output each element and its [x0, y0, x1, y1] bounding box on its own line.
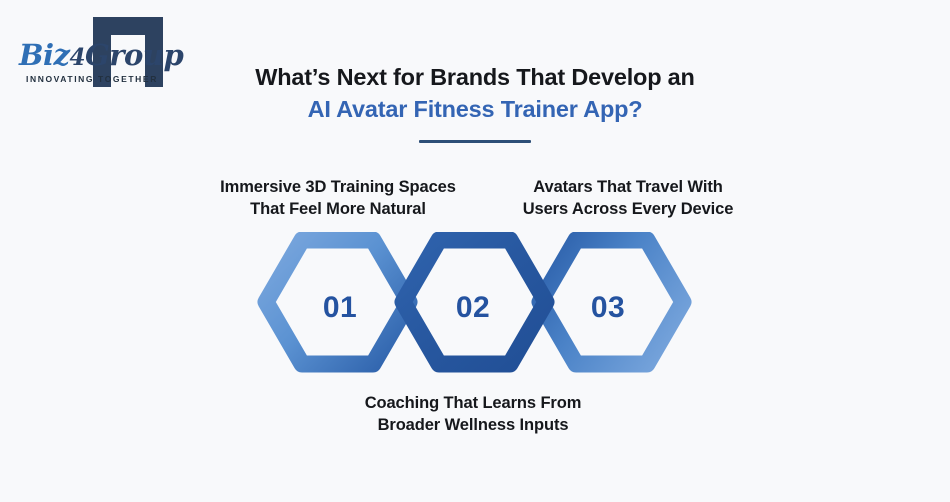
logo-word-group: Group — [85, 38, 183, 72]
logo-word-four: 4 — [70, 44, 86, 71]
header-title-block: What’s Next for Brands That Develop an A… — [175, 62, 775, 143]
step-caption-1: Immersive 3D Training Spaces That Feel M… — [188, 176, 488, 220]
step-caption-2-line-1: Coaching That Learns From — [365, 394, 582, 412]
logo-wordmark: Biz4Group — [19, 38, 159, 72]
page-title-line-2: AI Avatar Fitness Trainer App? — [175, 94, 775, 124]
hexagon-number-3: 03 — [568, 291, 648, 325]
step-caption-1-line-1: Immersive 3D Training Spaces — [220, 178, 456, 196]
title-divider — [419, 140, 531, 143]
logo-tagline: INNOVATING TOGETHER — [26, 74, 158, 84]
hexagon-number-1: 01 — [300, 291, 380, 325]
infographic-canvas: Biz4Group INNOVATING TOGETHER What’s Nex… — [0, 0, 950, 502]
step-caption-3-line-1: Avatars That Travel With — [533, 178, 722, 196]
step-caption-1-line-2: That Feel More Natural — [188, 198, 488, 220]
logo-word-biz: Biz — [19, 38, 70, 72]
step-caption-2: Coaching That Learns From Broader Wellne… — [323, 392, 623, 436]
step-caption-3: Avatars That Travel With Users Across Ev… — [478, 176, 778, 220]
step-caption-3-line-2: Users Across Every Device — [478, 198, 778, 220]
hexagon-number-2: 02 — [433, 291, 513, 325]
step-caption-2-line-2: Broader Wellness Inputs — [323, 414, 623, 436]
biz4group-logo: Biz4Group INNOVATING TOGETHER — [16, 16, 186, 92]
page-title-line-1: What’s Next for Brands That Develop an — [175, 62, 775, 92]
